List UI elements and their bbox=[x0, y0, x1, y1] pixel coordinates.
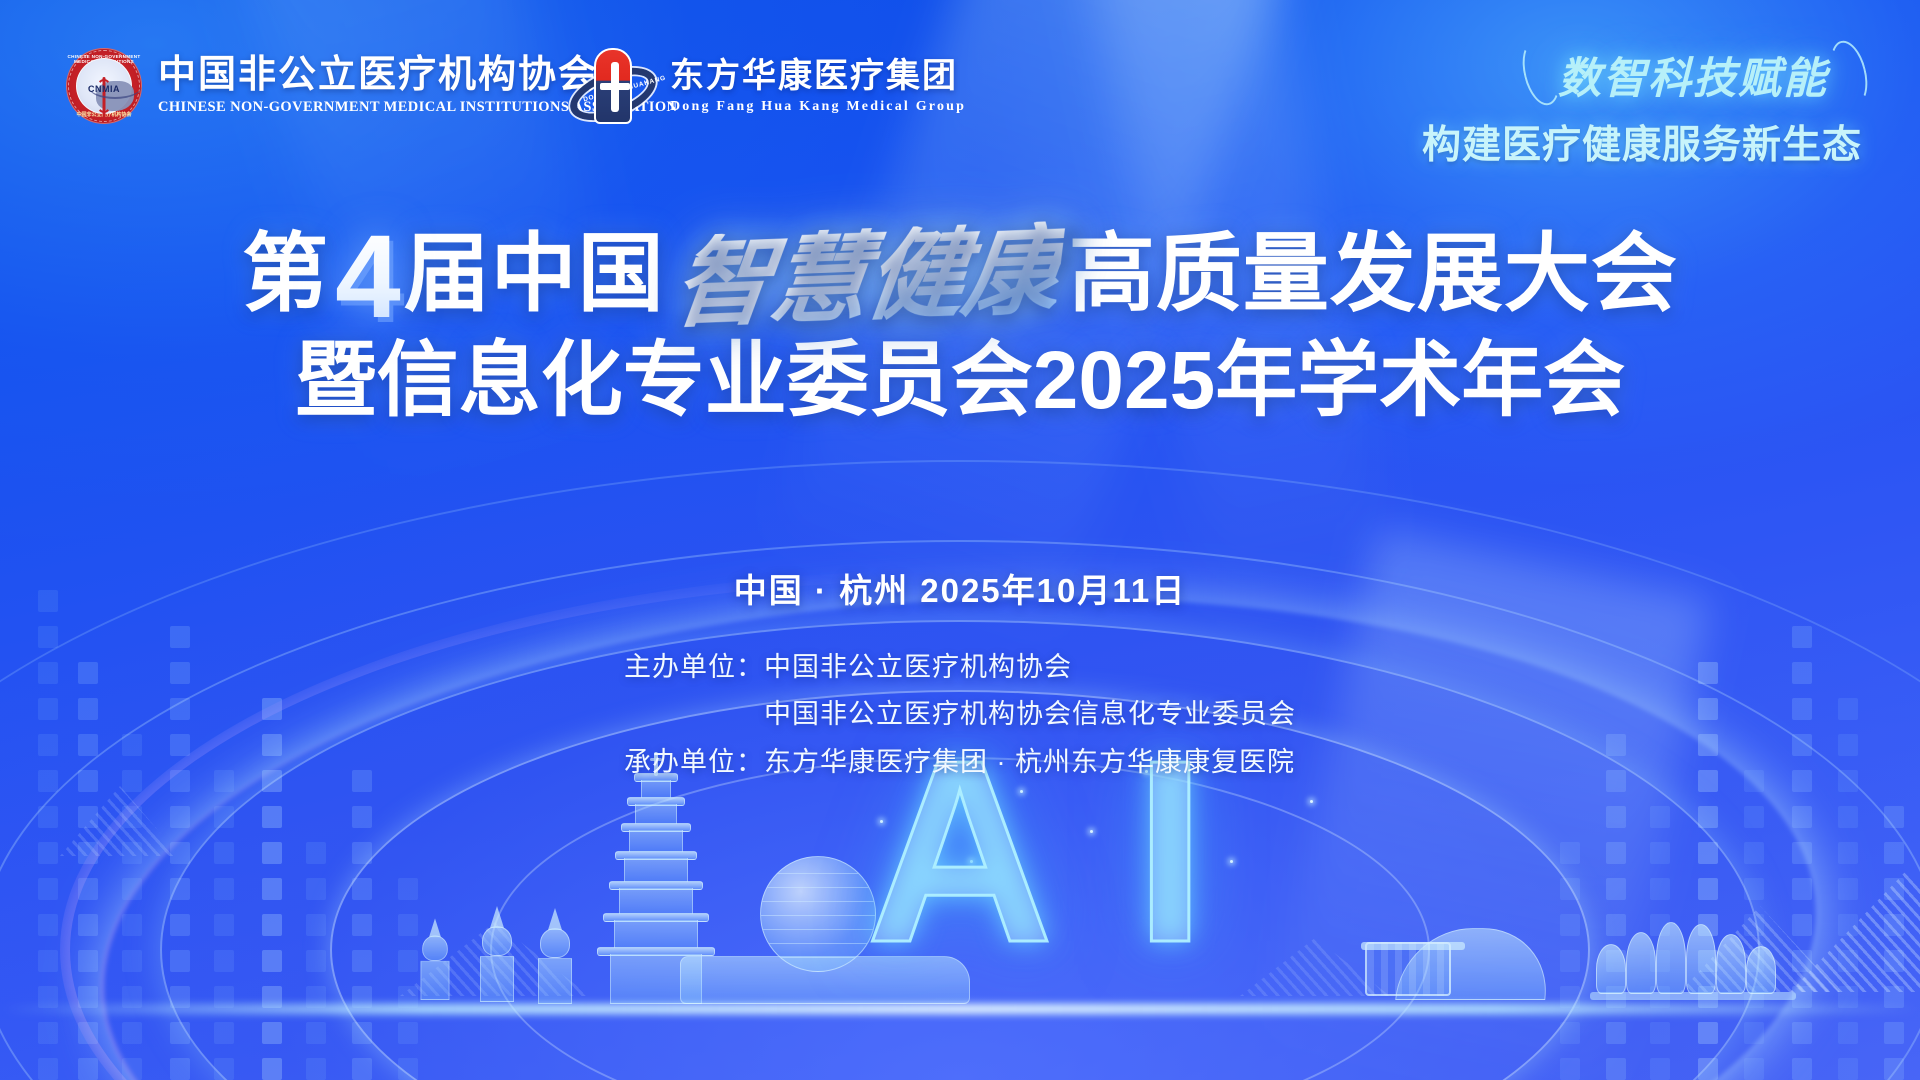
title-line-2: 暨信息化专业委员会2025年学术年会 bbox=[0, 340, 1920, 422]
organizers-block: 主办单位：中国非公立医疗机构协会 中国非公立医疗机构协会信息化专业委员会 承办单… bbox=[624, 644, 1296, 786]
main-title: 第4届中国智慧健康高质量发展大会 暨信息化专业委员会2025年学术年会 bbox=[0, 228, 1920, 422]
liuhe-pagoda-icon bbox=[595, 754, 717, 1004]
dfhk-mark-icon: DONGFANG HUAKANG bbox=[570, 46, 656, 128]
dfhk-name-cn: 东方华康医疗集团 bbox=[670, 59, 966, 95]
banner-header: CHINESE NON-GOVERNMENT MEDICAL INSTITUTI… bbox=[0, 0, 1920, 170]
place-and-date: 中国 · 杭州 2025年10月11日 bbox=[0, 564, 1920, 612]
conference-banner: CHINESE NON-GOVERNMENT MEDICAL INSTITUTI… bbox=[0, 0, 1920, 1080]
title-brush-phrase: 智慧健康 bbox=[668, 221, 1066, 334]
lotus-stadium-icon bbox=[1590, 914, 1796, 1000]
organizer-line-committee: 中国非公立医疗机构协会信息化专业委员会 bbox=[624, 691, 1296, 738]
mountain-icon bbox=[400, 922, 590, 996]
sparkle bbox=[880, 820, 883, 823]
sparkle bbox=[1020, 790, 1023, 793]
organizer-line-host: 主办单位：中国非公立医疗机构协会 bbox=[624, 644, 1296, 691]
sparkle bbox=[1230, 860, 1233, 863]
slogan-line-2: 构建医疗健康服务新生态 bbox=[1422, 114, 1862, 170]
mountain-icon bbox=[1680, 906, 1840, 992]
sparkle bbox=[970, 860, 973, 863]
logo-dongfang-huakang: DONGFANG HUAKANG 东方华康医疗集团 Dong Fang Hua … bbox=[570, 46, 966, 128]
sparkle bbox=[1310, 800, 1313, 803]
mountain-icon bbox=[1240, 938, 1390, 996]
conference-center-podium bbox=[680, 956, 970, 1004]
slogan-line-1: 数智科技赋能 bbox=[1528, 42, 1862, 108]
title-prefix: 第 bbox=[242, 226, 329, 322]
cnmia-emblem-icon: CHINESE NON-GOVERNMENT MEDICAL INSTITUTI… bbox=[66, 48, 142, 124]
title-ordinal-number: 4 bbox=[335, 229, 402, 326]
header-slogan: 数智科技赋能 构建医疗健康服务新生态 bbox=[1422, 42, 1862, 170]
sparkle bbox=[1090, 830, 1093, 833]
dfhk-name-en: Dong Fang Hua Kang Medical Group bbox=[670, 99, 966, 115]
title-line-1: 第4届中国智慧健康高质量发展大会 bbox=[0, 228, 1920, 326]
title-mid: 届中国 bbox=[404, 226, 665, 322]
dfhk-letter-h-icon bbox=[594, 48, 632, 124]
stupa-icon bbox=[480, 906, 514, 1002]
olympic-sports-center-icon bbox=[1365, 908, 1555, 1000]
organizer-committee-text: 中国非公立医疗机构协会信息化专业委员会 bbox=[764, 699, 1296, 729]
stupa-icon bbox=[538, 908, 572, 1004]
cnmia-acronym: CNMIA bbox=[77, 84, 131, 94]
hangzhou-conference-sphere-icon bbox=[760, 856, 876, 972]
skyline-base-glow bbox=[0, 1004, 1920, 1014]
mountain-icon bbox=[60, 786, 180, 856]
banner-meta: 中国 · 杭州 2025年10月11日 主办单位：中国非公立医疗机构协会 中国非… bbox=[0, 564, 1920, 786]
stupa-icon bbox=[421, 918, 450, 1000]
organizer-line-undertaker: 承办单位：东方华康医疗集团 · 杭州东方华康康复医院 bbox=[624, 739, 1296, 786]
title-suffix: 高质量发展大会 bbox=[1069, 226, 1678, 322]
mountain-icon bbox=[1790, 872, 1920, 992]
